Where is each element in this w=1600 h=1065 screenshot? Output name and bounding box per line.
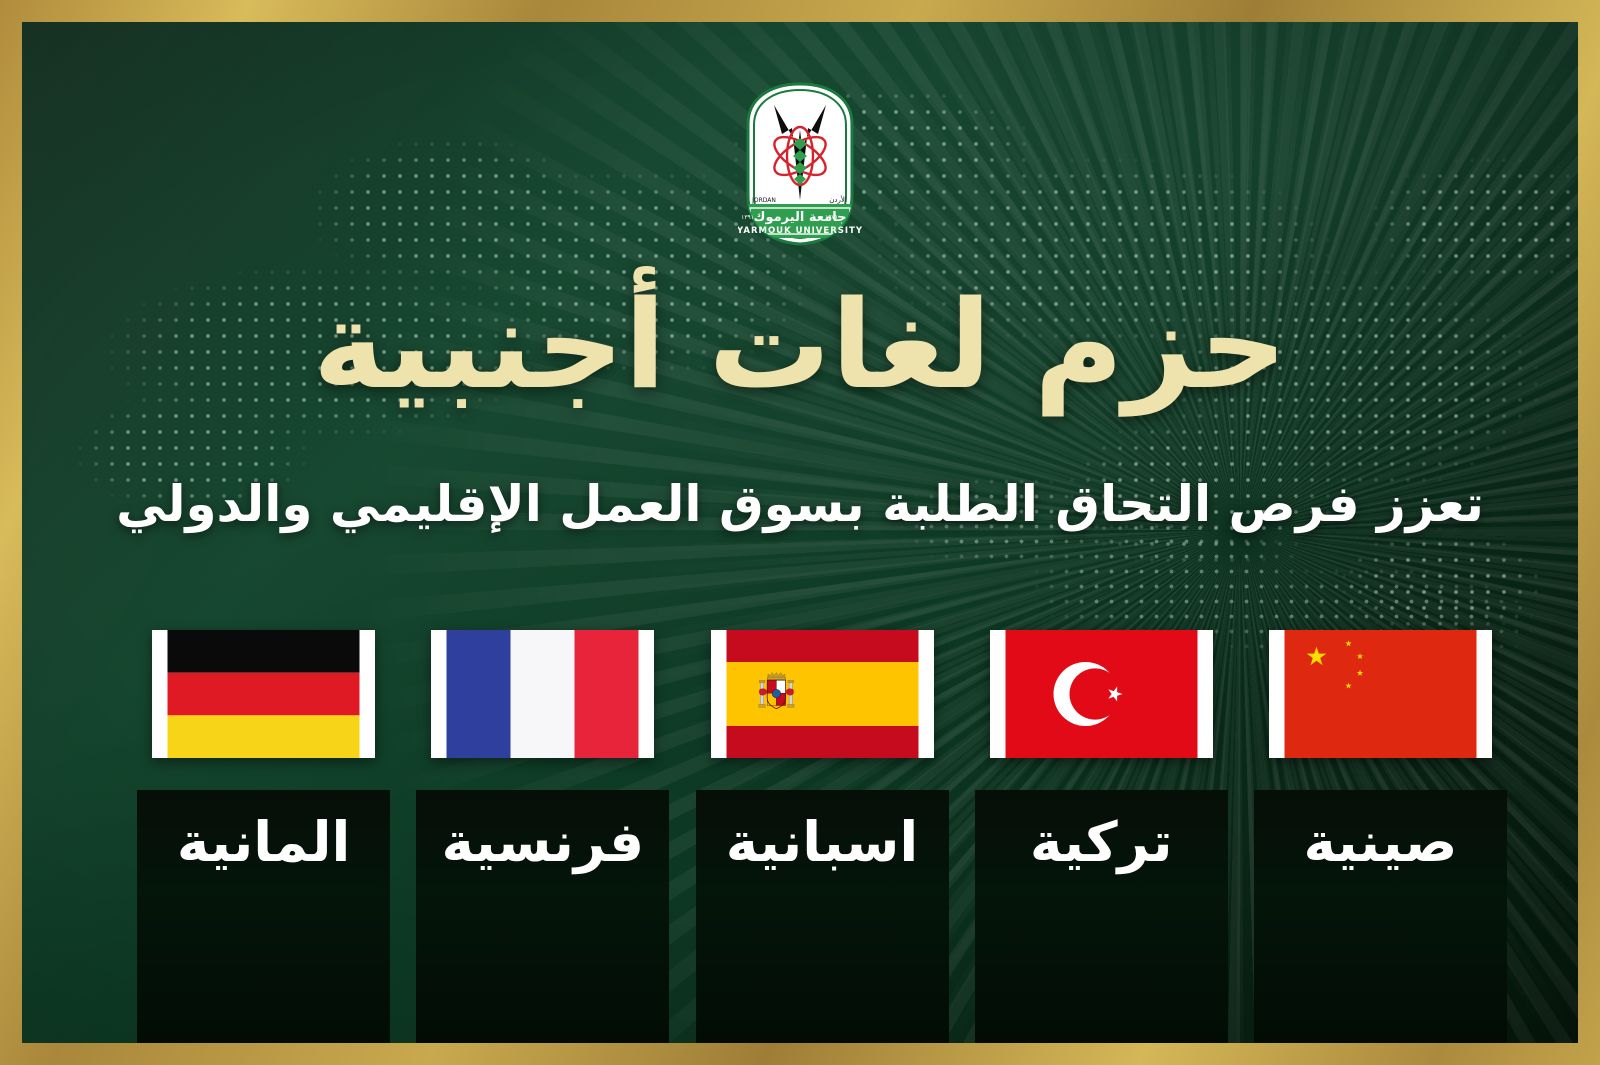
card-slot-turkish: تركية (962, 790, 1241, 1043)
card-slot-chinese: صينية (1241, 790, 1520, 1043)
language-card-german[interactable]: المانية (137, 790, 390, 1043)
germany-flag (152, 630, 375, 758)
logo-year-gregorian: ١٩٧١ (825, 214, 838, 221)
yarmouk-university-logo: جامعة اليرموك YARMOUK UNIVERSITY JORDAN … (738, 80, 862, 248)
language-label-turkish: تركية (1030, 812, 1173, 873)
card-slot-french: فرنسية (403, 790, 682, 1043)
language-label-spanish: اسبانية (726, 812, 919, 873)
flag-slot-german (124, 630, 403, 758)
poster-subheadline: تعزز فرص التحاق الطلبة بسوق العمل الإقلي… (22, 474, 1578, 535)
language-cards-row: صينية تركية اسبانية فرنسية ا (124, 790, 1520, 1043)
language-label-french: فرنسية (441, 812, 644, 873)
language-card-spanish[interactable]: اسبانية (696, 790, 949, 1043)
card-slot-german: المانية (124, 790, 403, 1043)
flag-slot-turkish (962, 630, 1241, 758)
turkey-flag (990, 630, 1213, 758)
poster-headline: حزم لغات أجنبية (22, 284, 1578, 406)
flag-slot-chinese (1241, 630, 1520, 758)
card-slot-spanish: اسبانية (682, 790, 961, 1043)
language-card-chinese[interactable]: صينية (1254, 790, 1507, 1043)
language-label-chinese: صينية (1303, 812, 1457, 873)
logo-country-arabic: الأردن (829, 195, 847, 204)
logo-year-hijri: ١٣٩١ (741, 214, 754, 221)
flag-slot-spanish (682, 630, 961, 758)
language-label-german: المانية (177, 812, 351, 873)
language-card-turkish[interactable]: تركية (975, 790, 1228, 1043)
flags-row (124, 630, 1520, 758)
logo-country-english: JORDAN (751, 197, 776, 204)
language-card-french[interactable]: فرنسية (416, 790, 669, 1043)
logo-english-name: YARMOUK UNIVERSITY (738, 226, 862, 236)
spain-flag (711, 630, 934, 758)
flag-slot-french (403, 630, 682, 758)
poster-stage: جامعة اليرموك YARMOUK UNIVERSITY JORDAN … (22, 22, 1578, 1043)
china-flag (1269, 630, 1492, 758)
poster-root: جامعة اليرموك YARMOUK UNIVERSITY JORDAN … (0, 0, 1600, 1065)
france-flag (431, 630, 654, 758)
